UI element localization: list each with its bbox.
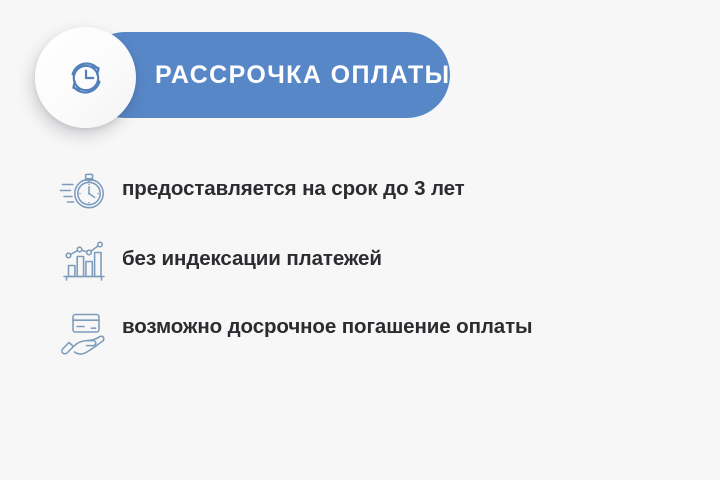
list-item-label: без индексации платежей	[112, 236, 676, 273]
header: РАССРОЧКА ОПЛАТЫ	[0, 0, 720, 150]
list-item: без индексации платежей	[56, 236, 676, 285]
bullet-list: предоставляется на срок до 3 лет	[56, 166, 676, 379]
list-item: предоставляется на срок до 3 лет	[56, 166, 676, 215]
clock-refresh-icon	[59, 51, 113, 105]
slide-root: РАССРОЧКА ОПЛАТЫ	[0, 0, 720, 480]
list-item-label: предоставляется на срок до 3 лет	[112, 166, 676, 203]
stopwatch-icon	[56, 167, 112, 215]
bar-chart-trend-icon	[56, 237, 112, 285]
header-badge	[35, 27, 136, 128]
page-title: РАССРОЧКА ОПЛАТЫ	[155, 32, 445, 118]
list-item-label: возможно досрочное погашение оплаты	[112, 306, 676, 341]
list-item: возможно досрочное погашение оплаты	[56, 306, 676, 358]
hand-holding-credit-card-icon	[56, 310, 112, 358]
